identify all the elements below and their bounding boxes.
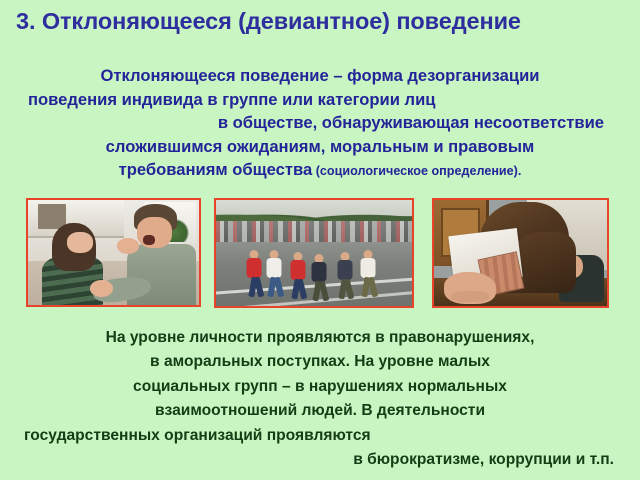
photo-band (0, 198, 640, 310)
definition-line-2: поведения индивида в группе или категори… (22, 88, 618, 112)
definition-line-5: требованиям общества (социологическое оп… (22, 158, 618, 184)
photo-argument-content (28, 200, 199, 305)
fighter-figure (287, 252, 309, 300)
figure-torso (312, 262, 327, 282)
bottom-line-6: в бюрократизме, коррупции и т.п. (14, 448, 626, 472)
fingers (451, 291, 489, 302)
definition-source-note: (социологическое определение). (312, 164, 521, 178)
definition-line-4: сложившимся ожиданиям, моральным и право… (22, 135, 618, 159)
figure-leg (344, 278, 355, 299)
bottom-line-3: социальных групп – в нарушениях нормальн… (14, 375, 626, 399)
bottom-text-block: На уровне личности проявляются в правона… (14, 326, 626, 472)
man-hand (90, 280, 114, 297)
photo-bribe-content (434, 200, 607, 306)
bottom-line-2: в аморальных поступках. На уровне малых (14, 350, 626, 374)
figure-leg (319, 280, 330, 301)
photo-bribe (432, 198, 609, 308)
definition-line-5-text: требованиям общества (119, 160, 313, 179)
fighter-figure (334, 252, 356, 300)
figure-leg (297, 278, 308, 299)
figure-torso (361, 258, 376, 278)
photo-street-fight (214, 198, 414, 308)
fighter-figure (263, 250, 285, 300)
definition-line-1: Отклоняющееся поведение – форма дезорган… (22, 64, 618, 88)
background-crowd (216, 221, 412, 244)
man-face (137, 217, 171, 249)
photo-street-fight-content (216, 200, 412, 306)
bottom-line-5: государственных организаций проявляются (14, 424, 626, 448)
figure-torso (267, 258, 282, 278)
bottom-line-1: На уровне личности проявляются в правона… (14, 326, 626, 350)
figure-torso (247, 258, 262, 278)
figure-torso (337, 260, 352, 280)
slide-root: 3. Отклоняющееся (девиантное) поведение … (0, 0, 640, 480)
definition-line-3: в обществе, обнаруживающая несоответстви… (22, 111, 618, 135)
definition-block: Отклоняющееся поведение – форма дезорган… (22, 64, 618, 184)
bottom-line-4: взаимоотношений людей. В деятельности (14, 399, 626, 423)
figure-leg (368, 276, 379, 297)
fighter-figure (308, 254, 330, 300)
figure-leg (273, 276, 284, 297)
photo-argument (26, 198, 201, 307)
man-hand-raised (117, 238, 139, 254)
shouting-mouth (143, 235, 155, 246)
fighter-figure (357, 250, 379, 300)
girl-face (67, 232, 93, 253)
page-title: 3. Отклоняющееся (девиантное) поведение (16, 8, 628, 35)
figure-torso (290, 260, 305, 280)
